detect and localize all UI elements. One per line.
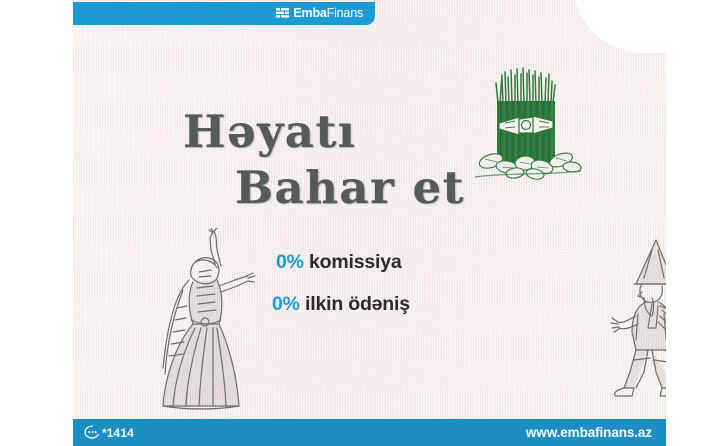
- brand-logo-text: EmbaFinans: [293, 7, 363, 20]
- offer-label: ilkin ödəniş: [305, 293, 410, 315]
- website-url[interactable]: www.embafinans.az: [526, 425, 652, 440]
- header-bar: EmbaFinans: [73, 2, 375, 25]
- call-center-bubble-icon: [84, 425, 101, 440]
- offer-label: komissiya: [309, 251, 402, 273]
- semeni-illustration: [469, 63, 587, 183]
- bars-logo-icon: [276, 8, 289, 20]
- advertisement-banner: Həyatı Bahar et 0% komissiya 0% ilkin öd…: [0, 0, 720, 446]
- dancer-illustration: [153, 228, 263, 413]
- corner-notch: [574, 0, 666, 52]
- offer-list: 0% komissiya 0% ilkin ödəniş: [262, 251, 562, 335]
- brand-name-light: Finans: [327, 6, 363, 20]
- hotline-number: *1414: [102, 426, 134, 440]
- banner-canvas: Həyatı Bahar et 0% komissiya 0% ilkin öd…: [73, 0, 666, 446]
- offer-percent: 0%: [272, 293, 300, 315]
- kosa-illustration: [600, 232, 666, 397]
- offer-item: 0% ilkin ödəniş: [262, 293, 562, 316]
- offer-item: 0% komissiya: [262, 251, 562, 274]
- brand-name-bold: Emba: [293, 6, 326, 20]
- offer-percent: 0%: [276, 251, 304, 273]
- brand-logo[interactable]: EmbaFinans: [276, 7, 363, 20]
- hotline-block[interactable]: *1414: [84, 425, 134, 440]
- footer-bar: *1414 www.embafinans.az: [73, 419, 666, 446]
